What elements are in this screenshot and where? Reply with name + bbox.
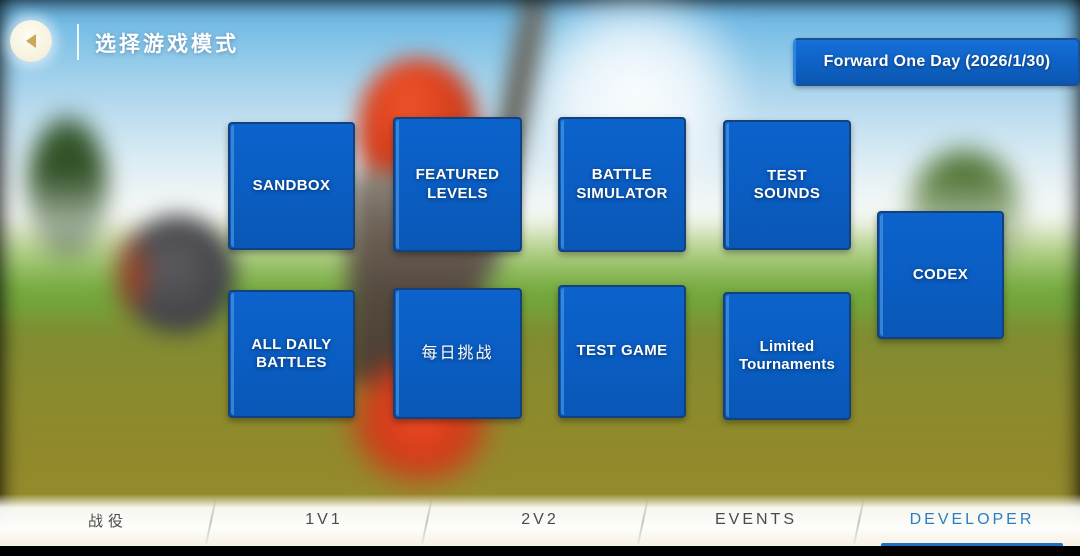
back-arrow-icon	[26, 34, 36, 48]
back-button[interactable]	[10, 20, 52, 62]
bottom-tab-bar: 战役1V12V2EVENTSDEVELOPER	[0, 494, 1080, 556]
game-mode-tile[interactable]: SANDBOX	[228, 122, 355, 250]
page-title: 选择游戏模式	[95, 28, 239, 58]
game-mode-tile[interactable]: TESTSOUNDS	[723, 120, 851, 250]
screen-bottom-bezel	[0, 546, 1080, 556]
tab-2v2[interactable]: 2V2	[432, 494, 648, 546]
tab-label: DEVELOPER	[910, 511, 1035, 529]
tab-label: 2V2	[521, 511, 558, 529]
header-bar: 选择游戏模式 Forward One Day (2026/1/30)	[0, 0, 1080, 88]
tab-label: EVENTS	[715, 511, 797, 529]
game-mode-tile-label: TESTSOUNDS	[746, 167, 829, 204]
game-mode-tile-label: SANDBOX	[245, 177, 339, 195]
game-mode-tile[interactable]: TEST GAME	[558, 285, 686, 418]
game-mode-tile-label: FEATUREDLEVELS	[408, 166, 508, 203]
game-mode-tile[interactable]: ALL DAILYBATTLES	[228, 290, 355, 418]
game-mode-tile[interactable]: LimitedTournaments	[723, 292, 851, 420]
title-separator	[77, 24, 79, 60]
game-mode-tile-label: ALL DAILYBATTLES	[243, 336, 339, 373]
game-mode-tile-label: BATTLESIMULATOR	[568, 166, 675, 203]
tab-1v1[interactable]: 1V1	[216, 494, 432, 546]
game-mode-tile[interactable]: CODEX	[877, 211, 1004, 339]
game-mode-tile-label: CODEX	[905, 266, 976, 284]
cart-wheel-rim	[108, 225, 150, 325]
tab-战役[interactable]: 战役	[0, 494, 216, 546]
knight-character	[300, 30, 580, 500]
tab-events[interactable]: EVENTS	[648, 494, 864, 546]
game-mode-tile[interactable]: BATTLESIMULATOR	[558, 117, 686, 252]
game-mode-tile-label: LimitedTournaments	[731, 338, 843, 375]
game-mode-tile-label: 每日挑战	[413, 344, 501, 364]
game-mode-tile[interactable]: FEATUREDLEVELS	[393, 117, 522, 252]
tab-label: 1V1	[305, 511, 342, 529]
forward-one-day-button[interactable]: Forward One Day (2026/1/30)	[793, 38, 1080, 86]
forward-one-day-label: Forward One Day (2026/1/30)	[824, 53, 1051, 71]
tab-list: 战役1V12V2EVENTSDEVELOPER	[0, 494, 1080, 546]
tab-developer[interactable]: DEVELOPER	[864, 494, 1080, 546]
game-mode-tile[interactable]: 每日挑战	[393, 288, 522, 419]
game-mode-select-screen: 选择游戏模式 Forward One Day (2026/1/30) SANDB…	[0, 0, 1080, 556]
tab-label: 战役	[88, 510, 128, 531]
game-mode-tile-label: TEST GAME	[568, 342, 675, 360]
